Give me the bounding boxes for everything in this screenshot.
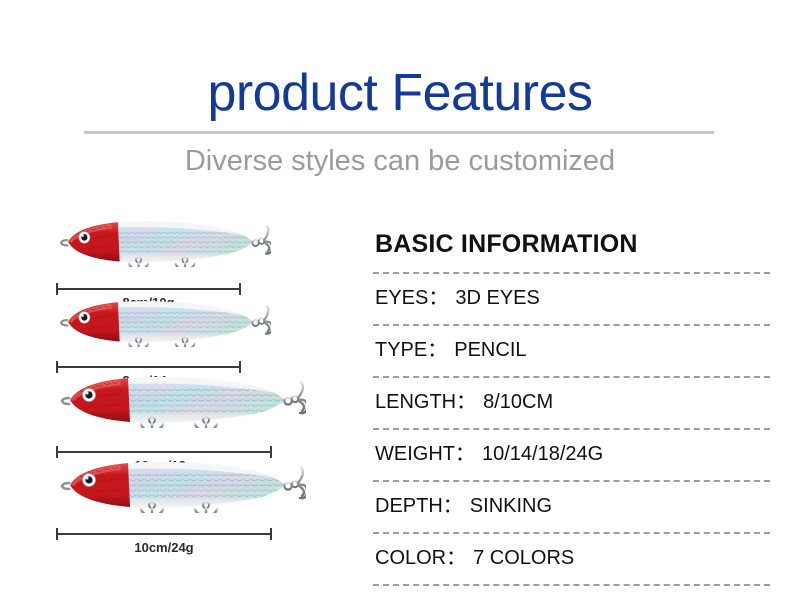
spec-separator bbox=[373, 428, 770, 430]
spec-label: WEIGHT： bbox=[375, 441, 475, 467]
spec-label: DEPTH： bbox=[375, 493, 463, 519]
lure-image bbox=[56, 455, 306, 518]
spec-separator bbox=[373, 376, 770, 378]
spec-value: 8/10CM bbox=[483, 389, 553, 415]
spec-row: EYES：3D EYES bbox=[375, 279, 770, 317]
size-label: 10cm/24g bbox=[56, 539, 272, 556]
spec-label: EYES： bbox=[375, 285, 448, 311]
spec-separator bbox=[373, 532, 770, 534]
page-title: product Features bbox=[0, 62, 800, 124]
lure-illustration bbox=[56, 215, 271, 267]
lure-image bbox=[56, 215, 271, 272]
measure-line bbox=[56, 451, 272, 453]
spec-row: TYPE：PENCIL bbox=[375, 331, 770, 369]
lure-illustration bbox=[56, 455, 306, 513]
spec-label: LENGTH： bbox=[375, 389, 476, 415]
spec-value: SINKING bbox=[470, 493, 552, 519]
spec-row: COLOR：7 COLORS bbox=[375, 539, 770, 577]
title-divider bbox=[84, 131, 714, 134]
page-header: product Features Diverse styles can be c… bbox=[0, 0, 800, 196]
measure-line bbox=[56, 533, 272, 535]
size-measure-bar: 8cm/10g bbox=[56, 283, 241, 295]
lure-illustration bbox=[56, 295, 271, 347]
spec-row: LENGTH：8/10CM bbox=[375, 383, 770, 421]
spec-value: 7 COLORS bbox=[473, 545, 574, 571]
size-measure-bar: 10cm/24g bbox=[56, 528, 272, 540]
spec-value: 10/14/18/24G bbox=[482, 441, 603, 467]
lure-gallery: 8cm/10g bbox=[30, 215, 360, 575]
spec-separator bbox=[373, 584, 770, 586]
spec-row: DEPTH：SINKING bbox=[375, 487, 770, 525]
measure-line bbox=[56, 366, 241, 368]
lure-illustration bbox=[56, 370, 306, 428]
lure-image bbox=[56, 295, 271, 352]
page-subtitle: Diverse styles can be customized bbox=[0, 142, 800, 180]
spec-label: COLOR： bbox=[375, 545, 466, 571]
lure-image bbox=[56, 370, 306, 433]
spec-separator bbox=[373, 324, 770, 326]
spec-value: 3D EYES bbox=[455, 285, 539, 311]
measure-line bbox=[56, 288, 241, 290]
info-panel-heading: BASIC INFORMATION bbox=[375, 228, 638, 260]
spec-label: TYPE： bbox=[375, 337, 447, 363]
spec-value: PENCIL bbox=[454, 337, 526, 363]
spec-separator bbox=[373, 272, 770, 274]
spec-row: WEIGHT：10/14/18/24G bbox=[375, 435, 770, 473]
spec-separator bbox=[373, 480, 770, 482]
basic-information-panel: BASIC INFORMATION EYES：3D EYESTYPE：PENCI… bbox=[373, 228, 773, 568]
